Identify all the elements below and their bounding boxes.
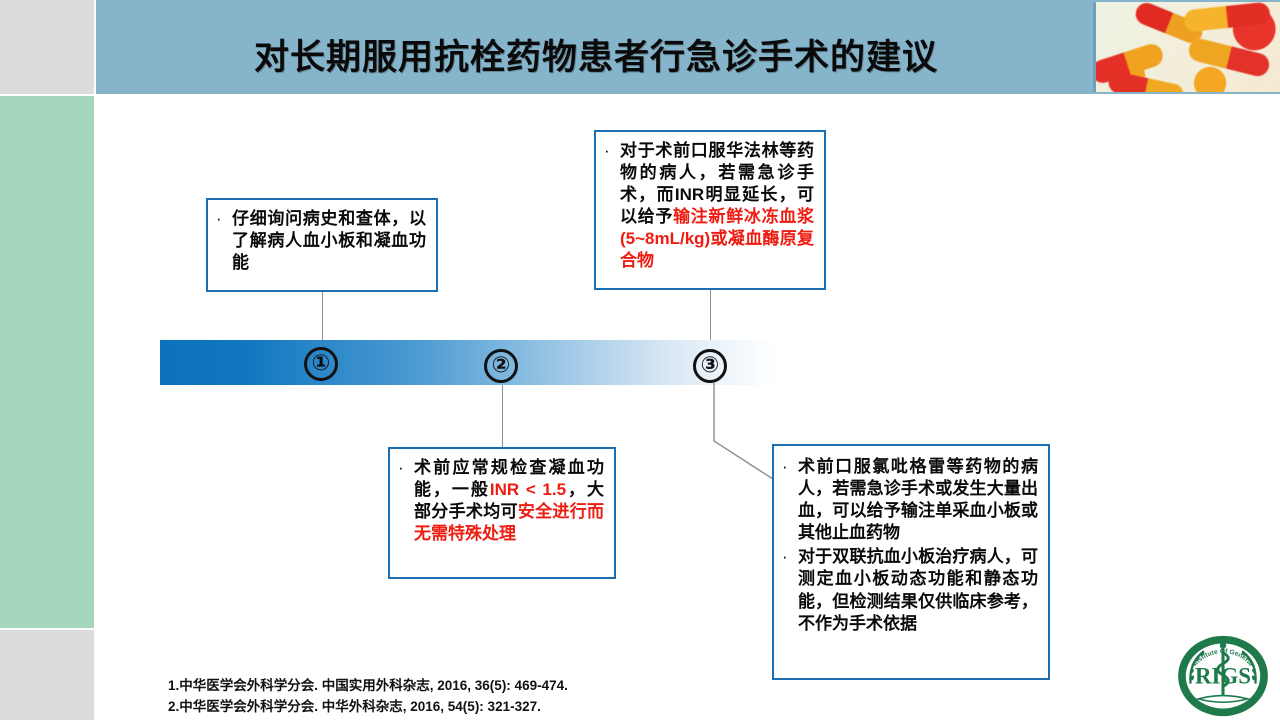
bullet-text: 术前应常规检查凝血功能，一般INR < 1.5，大部分手术均可安全进行而无需特殊… (414, 457, 604, 545)
step-marker-1[interactable]: ① (304, 347, 338, 381)
left-rail-gray-top (0, 0, 94, 94)
bullet-item: · 仔细询问病史和查体，以了解病人血小板和凝血功能 (216, 208, 426, 274)
page-title: 对长期服用抗栓药物患者行急诊手术的建议 (96, 0, 1096, 94)
timeline-bar (160, 340, 775, 385)
bullet-marker: · (604, 140, 620, 162)
content-box-1[interactable]: · 仔细询问病史和查体，以了解病人血小板和凝血功能 (206, 198, 438, 292)
bullet-item: · 对于双联抗血小板治疗病人，可测定血小板动态功能和静态功能，但检测结果仅供临床… (782, 546, 1038, 634)
step-marker-1-label: ① (312, 352, 331, 374)
reference-line-2: 2.中华医学会外科学分会. 中华外科杂志, 2016, 54(5): 321-3… (168, 697, 728, 718)
text-segment: 对于双联抗血小板治疗病人，可测定血小板动态功能和静态功能，但检测结果仅供临床参考… (798, 547, 1038, 632)
rigs-logo-text: RIGS (1195, 664, 1251, 689)
bullet-marker: · (398, 457, 414, 479)
step-marker-2-label: ② (492, 354, 511, 376)
rigs-logo: RIGS Institute Of General (1174, 634, 1272, 718)
bullet-marker: · (782, 456, 798, 478)
bullet-text: 对于术前口服华法林等药物的病人，若需急诊手术，而INR明显延长，可以给予输注新鲜… (620, 140, 814, 273)
capsules-photo (1093, 2, 1280, 92)
content-box-3[interactable]: · 术前应常规检查凝血功能，一般INR < 1.5，大部分手术均可安全进行而无需… (388, 447, 616, 579)
references: 1.中华医学会外科学分会. 中国实用外科杂志, 2016, 36(5): 469… (168, 676, 728, 718)
step-marker-2[interactable]: ② (484, 349, 518, 383)
bullet-text: 术前口服氯吡格雷等药物的病人，若需急诊手术或发生大量出血，可以给予输注单采血小板… (798, 456, 1038, 544)
text-segment: 术前口服氯吡格雷等药物的病人，若需急诊手术或发生大量出血，可以给予输注单采血小板… (798, 457, 1038, 542)
bullet-item: · 术前口服氯吡格雷等药物的病人，若需急诊手术或发生大量出血，可以给予输注单采血… (782, 456, 1038, 544)
bullet-marker: · (216, 208, 232, 230)
connector-box2 (710, 290, 711, 340)
left-rail-gray-bottom (0, 630, 94, 720)
reference-line-1: 1.中华医学会外科学分会. 中国实用外科杂志, 2016, 36(5): 469… (168, 676, 728, 697)
slide-root: 对长期服用抗栓药物患者行急诊手术的建议 ① ② ③ (0, 0, 1280, 720)
connector-box3 (502, 385, 503, 447)
left-rail-green (0, 96, 94, 628)
text-segment-highlight: INR < 1.5 (490, 480, 566, 499)
bullet-item: · 对于术前口服华法林等药物的病人，若需急诊手术，而INR明显延长，可以给予输注… (604, 140, 814, 273)
step-marker-3-label: ③ (701, 354, 720, 376)
bullet-text: 仔细询问病史和查体，以了解病人血小板和凝血功能 (232, 208, 426, 274)
bullet-item: · 术前应常规检查凝血功能，一般INR < 1.5，大部分手术均可安全进行而无需… (398, 457, 604, 545)
bullet-text: 对于双联抗血小板治疗病人，可测定血小板动态功能和静态功能，但检测结果仅供临床参考… (798, 546, 1038, 634)
content-box-2[interactable]: · 对于术前口服华法林等药物的病人，若需急诊手术，而INR明显延长，可以给予输注… (594, 130, 826, 290)
bullet-marker: · (782, 546, 798, 568)
connector-box1 (322, 292, 323, 340)
text-segment: 仔细询问病史和查体，以了解病人血小板和凝血功能 (232, 209, 426, 272)
content-box-4[interactable]: · 术前口服氯吡格雷等药物的病人，若需急诊手术或发生大量出血，可以给予输注单采血… (772, 444, 1050, 680)
step-marker-3[interactable]: ③ (693, 349, 727, 383)
